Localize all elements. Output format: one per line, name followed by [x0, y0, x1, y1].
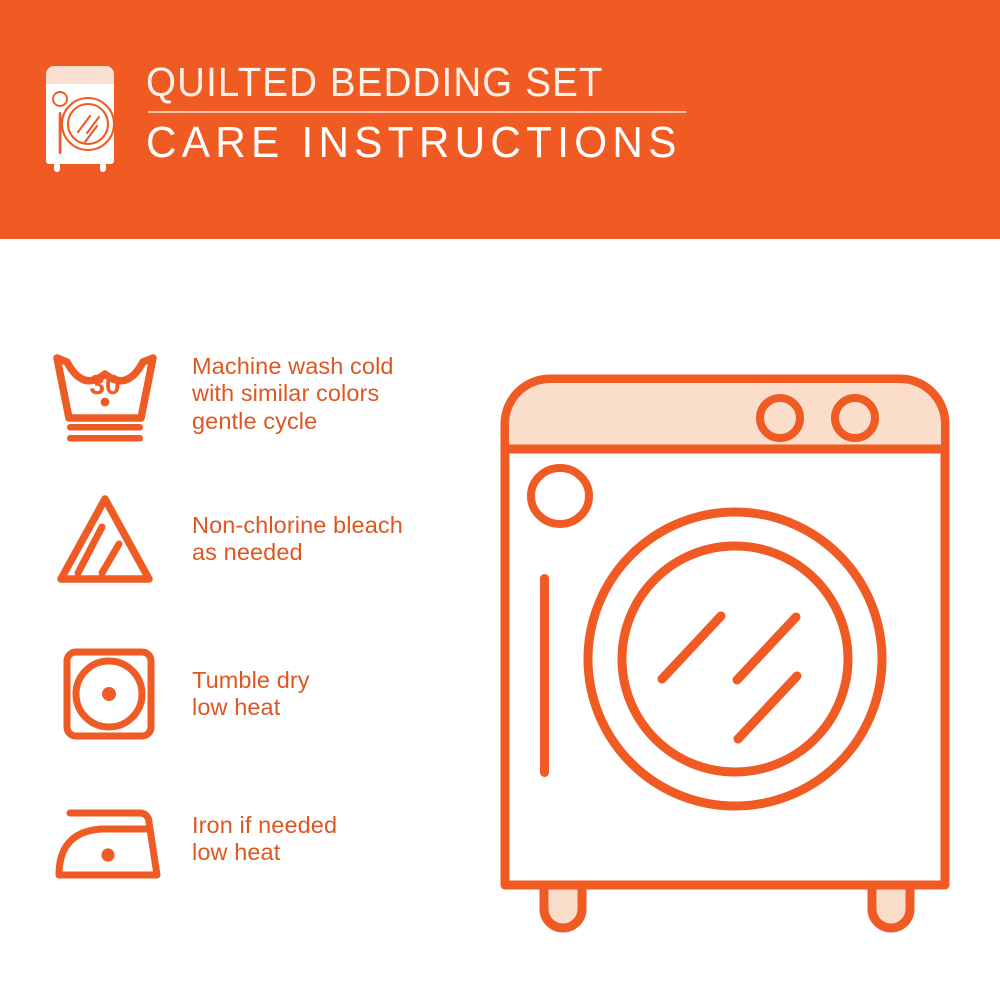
- page-subtitle: CARE INSTRUCTIONS: [146, 119, 682, 167]
- care-line: Iron if needed: [192, 812, 480, 840]
- care-line: gentle cycle: [192, 408, 480, 436]
- header-content: QUILTED BEDDING SET CARE INSTRUCTIONS: [40, 60, 960, 185]
- bleach-triangle-icon: [40, 483, 170, 595]
- tumble-dry-icon: [40, 638, 170, 750]
- care-line: low heat: [192, 839, 480, 867]
- care-text-iron: Iron if needed low heat: [170, 812, 480, 867]
- care-row-bleach: Non-chlorine bleach as needed: [40, 479, 480, 599]
- care-line: Non-chlorine bleach: [192, 512, 480, 540]
- leg-right: [872, 885, 910, 928]
- care-line: Tumble dry: [192, 667, 480, 695]
- care-text-tumble-dry: Tumble dry low heat: [170, 667, 480, 722]
- washing-machine-illustration: [490, 339, 980, 939]
- care-row-tumble-dry: Tumble dry low heat: [40, 634, 480, 754]
- wash-tub-icon: 30: [40, 338, 170, 450]
- care-text-bleach: Non-chlorine bleach as needed: [170, 512, 480, 567]
- body-area: 30 Machine wash cold with similar colors…: [0, 239, 1000, 1000]
- care-line: with similar colors: [192, 380, 480, 408]
- care-text-machine-wash: Machine wash cold with similar colors ge…: [170, 353, 480, 436]
- header-band: QUILTED BEDDING SET CARE INSTRUCTIONS: [0, 0, 1000, 239]
- care-row-iron: Iron if needed low heat: [40, 779, 480, 899]
- care-line: Machine wash cold: [192, 353, 480, 381]
- care-instructions-page: QUILTED BEDDING SET CARE INSTRUCTIONS 30: [0, 0, 1000, 1000]
- door-handle: [540, 574, 549, 777]
- svg-text:30: 30: [89, 369, 120, 400]
- iron-icon: [40, 783, 170, 895]
- title-divider: [148, 111, 686, 113]
- washing-machine-icon: [40, 62, 126, 174]
- care-row-machine-wash: 30 Machine wash cold with similar colors…: [40, 334, 480, 454]
- leg-left: [544, 885, 582, 928]
- care-line: as needed: [192, 539, 480, 567]
- page-title: QUILTED BEDDING SET: [146, 60, 671, 104]
- header-title-block: QUILTED BEDDING SET CARE INSTRUCTIONS: [146, 60, 704, 167]
- care-line: low heat: [192, 694, 480, 722]
